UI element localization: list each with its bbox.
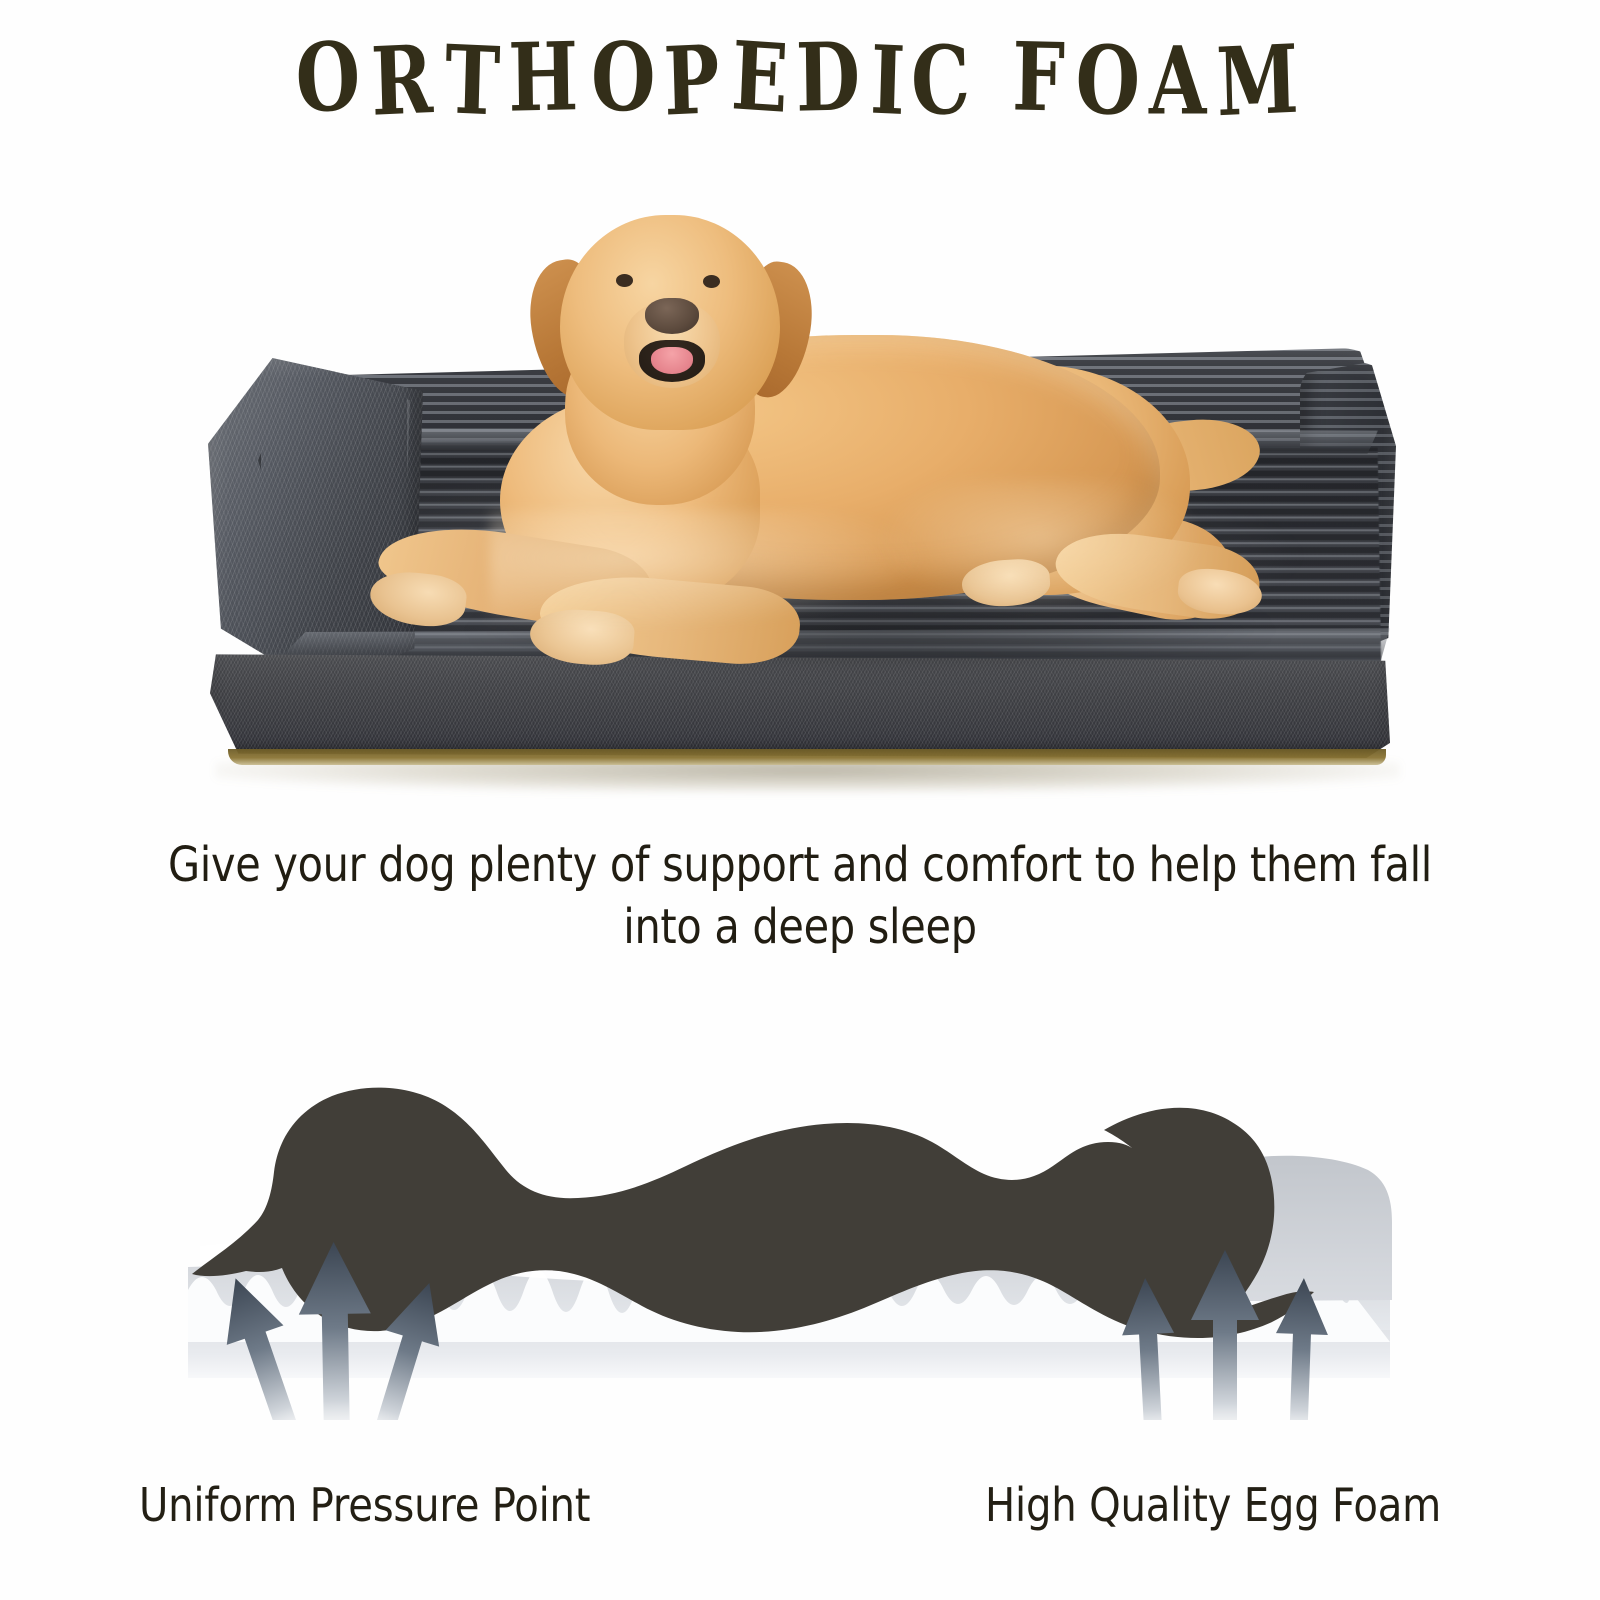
title-char: A — [1149, 32, 1208, 131]
title-char: I — [869, 31, 908, 131]
title-char: T — [443, 30, 502, 131]
dog-tongue — [651, 347, 693, 374]
product-photo — [0, 180, 1600, 820]
title-char: H — [508, 27, 581, 127]
title-char: O — [590, 28, 657, 128]
label-uniform-pressure-point: Uniform Pressure Point — [139, 1478, 590, 1532]
title-char: P — [662, 30, 722, 131]
title-space — [977, 34, 1008, 133]
dog-eye-left — [616, 274, 633, 287]
dog-fur-highlight-front — [490, 510, 930, 630]
dog-fur-highlight-rear — [880, 480, 1200, 610]
product-infographic-page: ORTHOPEDIC FOAM — [0, 0, 1600, 1600]
pressure-distribution-diagram — [0, 990, 1600, 1420]
title-char: F — [1012, 28, 1068, 128]
title-char: O — [1074, 30, 1143, 132]
title-char: M — [1216, 30, 1302, 132]
dog-eye-right — [703, 275, 720, 288]
page-title: ORTHOPEDIC FOAM — [0, 40, 1600, 128]
title-char: E — [730, 26, 792, 129]
subtitle-text: Give your dog plenty of support and comf… — [138, 834, 1463, 959]
dog-nose — [645, 298, 699, 334]
title-char: C — [910, 30, 973, 131]
title-char: D — [795, 28, 862, 128]
diagram-svg — [0, 990, 1600, 1420]
dog-photo-golden-retriever — [0, 180, 1600, 820]
label-high-quality-egg-foam: High Quality Egg Foam — [985, 1478, 1441, 1532]
title-char: O — [294, 26, 364, 129]
title-char: R — [370, 30, 436, 132]
